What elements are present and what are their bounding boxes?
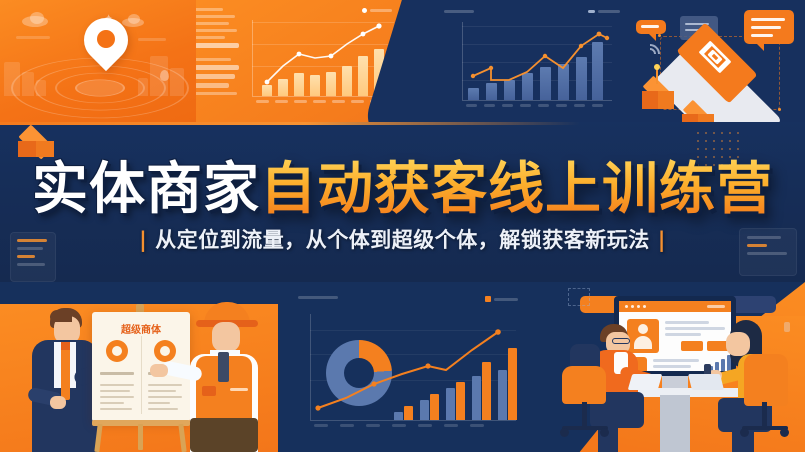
cube-icon: [640, 80, 676, 114]
map-pin-icon: [84, 18, 128, 74]
speech-bubble-right: [730, 296, 776, 313]
chart-caption: [444, 10, 474, 13]
chair-left: [562, 366, 606, 404]
chart-caption: [298, 296, 338, 299]
decor-shape: [784, 322, 790, 332]
decor-grid: [568, 288, 590, 306]
cube-node: [654, 64, 660, 70]
location-pin-panel: ✦: [0, 0, 200, 122]
chair-right: [744, 354, 788, 406]
x-tick-labels: [466, 104, 603, 107]
title-band: 实体商家自动获客线上训练营 |从定位到流量，从个体到超级个体，解锁获客新玩法|: [0, 122, 805, 282]
subtitle-bar-left: |: [131, 228, 155, 252]
chart-legend: [588, 10, 620, 13]
isometric-server-illustration: [622, 0, 805, 130]
tag-icon: [636, 20, 666, 34]
poster-canvas: ✦: [0, 0, 805, 452]
accent-rule: [0, 122, 805, 125]
x-tick-labels: [314, 424, 484, 427]
chart-legend: [362, 8, 392, 13]
bottom-band: 超级商体: [0, 282, 805, 452]
board-title: 超级商体: [92, 321, 190, 336]
top-dark-chart: [432, 0, 628, 128]
cloud-icon: [128, 14, 140, 24]
page-subtitle: |从定位到流量，从个体到超级个体，解锁获客新玩法|: [0, 224, 805, 254]
chart-legend: [485, 296, 518, 302]
glasses-icon: [612, 338, 630, 344]
top-band: ✦: [0, 0, 805, 128]
subtitle-bar-right: |: [650, 228, 674, 252]
x-tick-labels: [256, 100, 383, 107]
cube-stem: [656, 68, 658, 84]
headline-gold: 自动获客线上训练营: [260, 157, 773, 222]
office-meeting-scene: [548, 282, 805, 452]
page-title: 实体商家自动获客线上训练营: [0, 144, 805, 225]
laptop-left: [628, 374, 663, 390]
check-badge-right: [154, 340, 176, 362]
decor-line: [16, 36, 50, 39]
trend-line: [466, 22, 614, 100]
desk-leg: [660, 395, 690, 452]
worker-with-helmet: [178, 302, 270, 452]
chat-bubble-icon: [744, 10, 794, 44]
top-orange-chart: [196, 0, 440, 122]
x-axis: [252, 96, 394, 97]
small-pin-icon: [160, 70, 169, 81]
subtitle-text: 从定位到流量，从个体到超级个体，解锁获客新玩法: [155, 228, 650, 252]
cloud-icon: [30, 12, 44, 24]
check-badge-left: [106, 340, 128, 362]
headline-white: 实体商家: [32, 157, 260, 222]
bottom-mid-chart: [284, 292, 524, 448]
decor-line: [138, 38, 166, 41]
laptop-right: [688, 374, 724, 390]
trend-line: [310, 314, 518, 420]
y-axis: [252, 20, 253, 96]
trend-line: [258, 20, 398, 96]
